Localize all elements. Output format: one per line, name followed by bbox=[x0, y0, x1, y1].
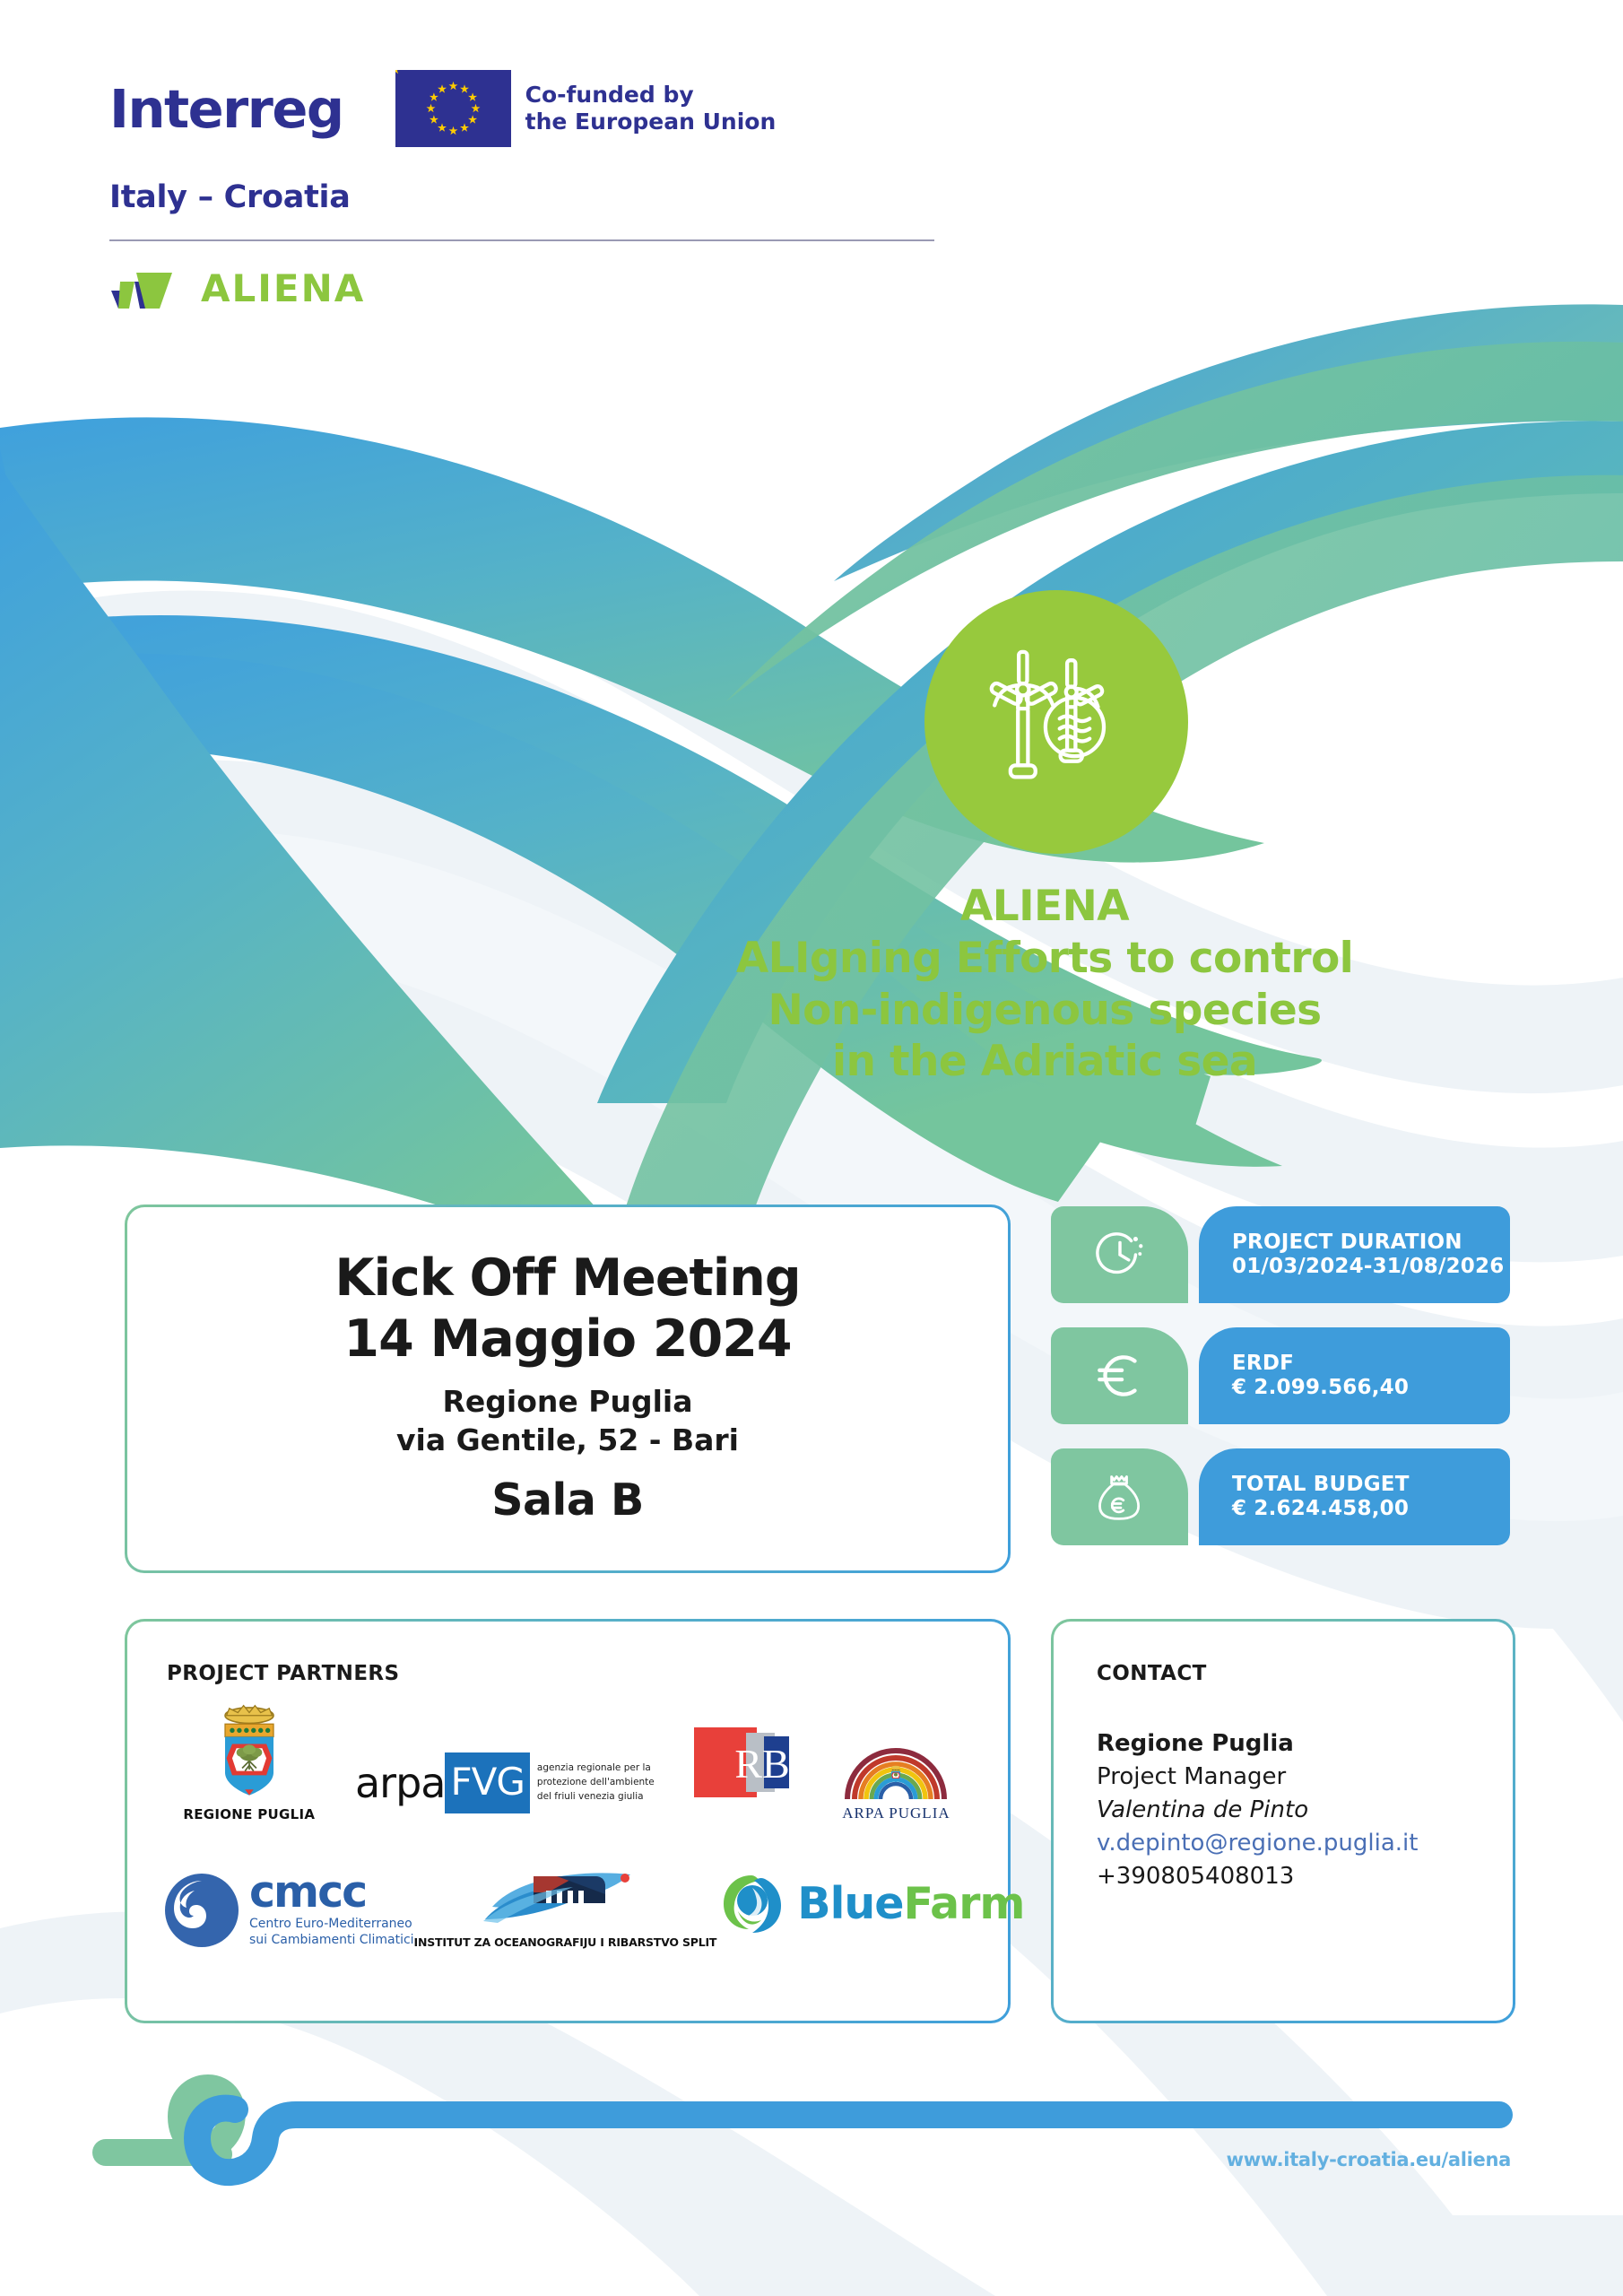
euro-icon bbox=[1090, 1346, 1150, 1405]
interreg-branding-row: Interreg bbox=[109, 70, 934, 147]
bluefarm-word-green: Farm bbox=[904, 1878, 1025, 1929]
arpa-fvg-sub3: del friuli venezia giulia bbox=[537, 1790, 655, 1805]
partner-logo-rb: RB bbox=[694, 1722, 802, 1822]
clock-icon bbox=[1092, 1227, 1148, 1283]
chip-value: € 2.099.566,40 bbox=[1232, 1376, 1510, 1400]
arpa-fvg-sub1: agenzia regionale per la bbox=[537, 1761, 655, 1776]
contact-phone: +390805408013 bbox=[1097, 1860, 1418, 1893]
partner-caption: ARPA PUGLIA bbox=[842, 1805, 950, 1822]
project-title-line3: in the Adriatic sea bbox=[556, 1036, 1533, 1088]
event-date: 14 Maggio 2024 bbox=[343, 1313, 791, 1367]
project-title-line2: Non-indigenous species bbox=[556, 985, 1533, 1037]
header-logos: Interreg bbox=[109, 70, 934, 310]
project-acronym: ALIENA bbox=[556, 881, 1533, 933]
partner-logo-arpa-fvg: arpa FVG agenzia regionale per la protez… bbox=[355, 1752, 655, 1822]
aliena-logo-text: ALIENA bbox=[201, 266, 365, 310]
project-info-chips: PROJECT DURATION 01/03/2024-31/08/2026 E… bbox=[1051, 1206, 1510, 1570]
event-room: Sala B bbox=[491, 1474, 644, 1526]
chip-label: ERDF bbox=[1232, 1352, 1510, 1376]
footer-url[interactable]: www.italy-croatia.eu/aliena bbox=[1227, 2149, 1511, 2170]
chip-value: € 2.624.458,00 bbox=[1232, 1497, 1510, 1521]
event-venue-line1: Regione Puglia bbox=[396, 1383, 739, 1422]
event-title: Kick Off Meeting bbox=[334, 1252, 800, 1306]
chip-body: TOTAL BUDGET € 2.624.458,00 bbox=[1199, 1448, 1510, 1545]
contact-email-link[interactable]: v.depinto@regione.puglia.it bbox=[1097, 1827, 1418, 1860]
partner-caption: REGIONE PUGLIA bbox=[183, 1806, 315, 1822]
partner-logo-row-2: cmcc Centro Euro-Mediterraneo sui Cambia… bbox=[163, 1864, 934, 1949]
contact-card: CONTACT Regione Puglia Project Manager V… bbox=[1051, 1619, 1515, 2023]
project-partners-card: PROJECT PARTNERS bbox=[125, 1619, 1011, 2023]
chip-label: PROJECT DURATION bbox=[1232, 1231, 1510, 1255]
arpa-fvg-subtitle: agenzia regionale per la protezione dell… bbox=[537, 1761, 655, 1804]
programme-name: Italy – Croatia bbox=[109, 179, 934, 215]
chip-icon-wrap bbox=[1051, 1327, 1188, 1424]
contact-role: Project Manager bbox=[1097, 1761, 1418, 1794]
cmcc-wordmark: cmcc bbox=[249, 1872, 366, 1914]
chip-icon-wrap bbox=[1051, 1448, 1188, 1545]
chip-project-duration: PROJECT DURATION 01/03/2024-31/08/2026 bbox=[1051, 1206, 1510, 1303]
partner-logo-izor-split: INSTITUT ZA OCEANOGRAFIJU I RIBARSTVO SP… bbox=[414, 1864, 717, 1949]
arpa-wordmark: arpa bbox=[355, 1762, 446, 1804]
bluefarm-word-blue: Blue bbox=[797, 1878, 903, 1929]
eu-stars-icon bbox=[395, 70, 511, 147]
cmcc-sub1: Centro Euro-Mediterraneo bbox=[249, 1917, 414, 1933]
project-title: ALIENA ALIgning Efforts to control Non-i… bbox=[556, 881, 1533, 1088]
chip-body: PROJECT DURATION 01/03/2024-31/08/2026 bbox=[1199, 1206, 1510, 1303]
partner-logo-row-1: REGIONE PUGLIA arpa FVG agenzia regional… bbox=[163, 1704, 970, 1822]
wind-turbines-waves-icon bbox=[973, 639, 1140, 805]
cmcc-swirl-icon bbox=[163, 1872, 240, 1949]
chip-body: ERDF € 2.099.566,40 bbox=[1199, 1327, 1510, 1424]
chip-total-budget: TOTAL BUDGET € 2.624.458,00 bbox=[1051, 1448, 1510, 1545]
contact-organisation: Regione Puglia bbox=[1097, 1727, 1418, 1761]
arpa-fvg-sub2: protezione dell'ambiente bbox=[537, 1776, 655, 1790]
partner-logo-cmcc: cmcc Centro Euro-Mediterraneo sui Cambia… bbox=[163, 1872, 414, 1949]
bluefarm-leaf-icon bbox=[716, 1868, 786, 1938]
contact-person: Valentina de Pinto bbox=[1097, 1794, 1418, 1827]
project-badge bbox=[924, 590, 1188, 854]
eu-cofunded-text: Co-funded by the European Union bbox=[525, 82, 777, 136]
partner-logo-regione-puglia: REGIONE PUGLIA bbox=[183, 1704, 315, 1822]
event-card: Kick Off Meeting 14 Maggio 2024 Regione … bbox=[125, 1205, 1011, 1573]
chip-label: TOTAL BUDGET bbox=[1232, 1473, 1510, 1497]
partner-logo-arpa-puglia: ARPA PUGLIA bbox=[842, 1731, 950, 1822]
project-title-line1: ALIgning Efforts to control bbox=[556, 933, 1533, 985]
money-bag-icon bbox=[1093, 1470, 1147, 1524]
header-divider bbox=[109, 239, 934, 241]
fvg-box: FVG bbox=[445, 1752, 529, 1813]
cmcc-subtitle: Centro Euro-Mediterraneo sui Cambiamenti… bbox=[249, 1917, 414, 1949]
footer-swirl-decoration bbox=[0, 2045, 1623, 2251]
eu-emblem-row: Co-funded by the European Union bbox=[395, 70, 777, 147]
cmcc-sub2: sui Cambiamenti Climatici bbox=[249, 1933, 414, 1949]
aliena-project-logo: ALIENA bbox=[109, 266, 934, 310]
svg-text:RB: RB bbox=[735, 1741, 790, 1787]
aliena-mark-icon bbox=[109, 267, 176, 310]
eu-cofunded-line1: Co-funded by bbox=[525, 82, 777, 109]
eu-flag-icon bbox=[395, 70, 511, 147]
chip-erdf: ERDF € 2.099.566,40 bbox=[1051, 1327, 1510, 1424]
eu-cofunded-line2: the European Union bbox=[525, 109, 777, 136]
partner-caption: INSTITUT ZA OCEANOGRAFIJU I RIBARSTVO SP… bbox=[414, 1935, 717, 1949]
partner-logo-bluefarm: Blue Farm bbox=[716, 1868, 1024, 1949]
interreg-wordmark: Interreg bbox=[109, 83, 343, 135]
arpa-puglia-rainbow-icon bbox=[842, 1731, 950, 1799]
rb-logo-icon: RB bbox=[694, 1722, 802, 1803]
chip-value: 01/03/2024-31/08/2026 bbox=[1232, 1255, 1510, 1279]
partners-heading: PROJECT PARTNERS bbox=[167, 1662, 400, 1685]
regione-puglia-crest-icon bbox=[206, 1704, 292, 1801]
izor-split-fish-icon bbox=[480, 1864, 650, 1930]
event-venue-line2: via Gentile, 52 - Bari bbox=[396, 1422, 739, 1460]
contact-heading: CONTACT bbox=[1097, 1662, 1207, 1685]
contact-details: Regione Puglia Project Manager Valentina… bbox=[1097, 1727, 1418, 1893]
chip-icon-wrap bbox=[1051, 1206, 1188, 1303]
event-venue: Regione Puglia via Gentile, 52 - Bari bbox=[396, 1383, 739, 1460]
